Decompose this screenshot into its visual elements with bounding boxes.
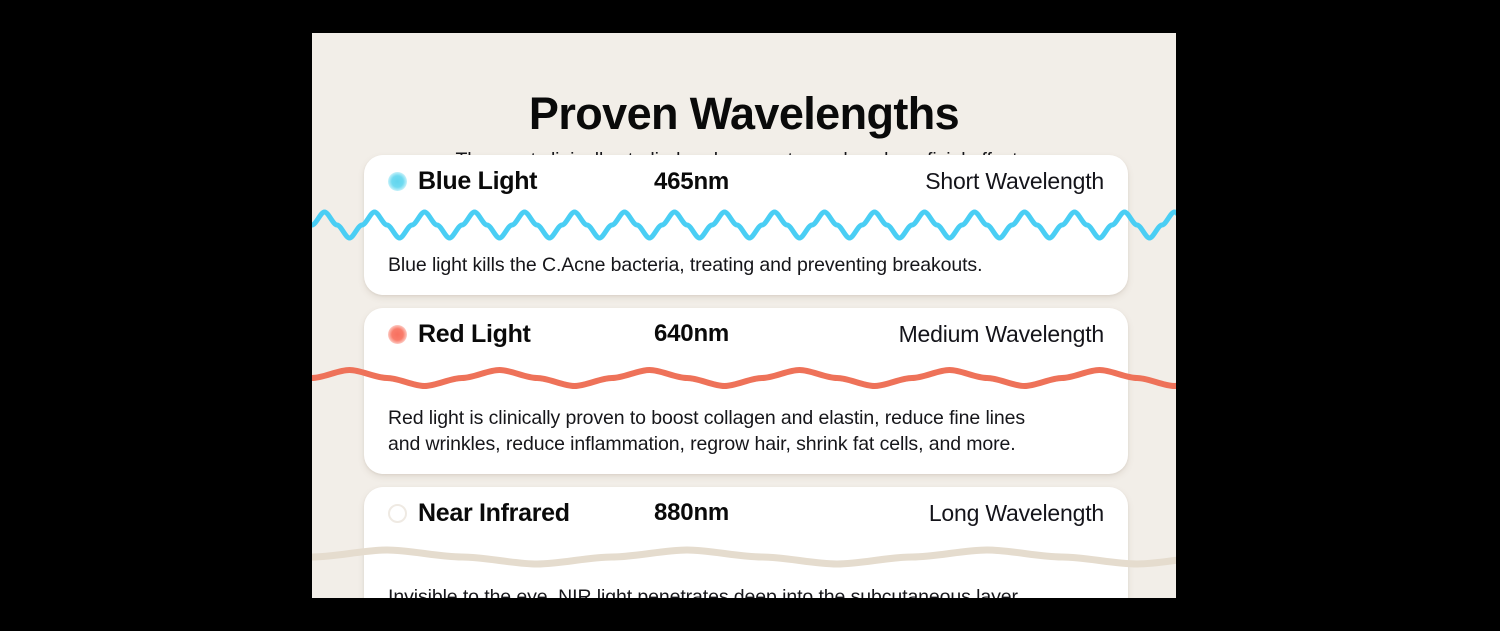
card-nanometer-value: 465nm bbox=[654, 168, 729, 196]
wave-graphic-blue-light bbox=[312, 203, 1176, 247]
wavelength-card-blue-light: Blue Light465nmShort WavelengthBlue ligh… bbox=[364, 155, 1128, 295]
card-description: Blue light kills the C.Acne bacteria, tr… bbox=[364, 247, 1128, 295]
card-nanometer-value: 640nm bbox=[654, 320, 729, 348]
card-description-line: and wrinkles, reduce inflammation, regro… bbox=[388, 432, 1104, 458]
wave-strip bbox=[364, 535, 1128, 579]
card-header-row: Near Infrared880nmLong Wavelength bbox=[364, 487, 1128, 537]
card-description-line: Red light is clinically proven to boost … bbox=[388, 406, 1104, 432]
screenshot-root: Proven Wavelengths The most clinically s… bbox=[0, 0, 1500, 631]
card-range-label: Short Wavelength bbox=[925, 168, 1104, 195]
card-description-line: Blue light kills the C.Acne bacteria, tr… bbox=[388, 253, 1104, 279]
hollow-ring-dot-icon bbox=[388, 504, 407, 523]
card-header-row: Red Light640nmMedium Wavelength bbox=[364, 308, 1128, 358]
wave-strip bbox=[364, 203, 1128, 247]
card-description-line: Invisible to the eye, NIR light penetrat… bbox=[388, 585, 1104, 598]
card-description: Red light is clinically proven to boost … bbox=[364, 400, 1128, 474]
wavelength-card-near-infrared: Near Infrared880nmLong WavelengthInvisib… bbox=[364, 487, 1128, 598]
wave-graphic-near-infrared bbox=[312, 535, 1176, 579]
wavelength-card-list: Blue Light465nmShort WavelengthBlue ligh… bbox=[364, 155, 1128, 598]
card-name: Near Infrared bbox=[418, 499, 570, 528]
card-header-row: Blue Light465nmShort Wavelength bbox=[364, 155, 1128, 205]
card-description: Invisible to the eye, NIR light penetrat… bbox=[364, 579, 1128, 598]
card-name: Red Light bbox=[418, 320, 531, 349]
card-nanometer-value: 880nm bbox=[654, 499, 729, 527]
card-range-label: Long Wavelength bbox=[929, 500, 1104, 527]
card-range-label: Medium Wavelength bbox=[899, 321, 1104, 348]
wavelengths-panel: Proven Wavelengths The most clinically s… bbox=[312, 33, 1176, 598]
wavelength-card-red-light: Red Light640nmMedium WavelengthRed light… bbox=[364, 308, 1128, 474]
wave-graphic-red-light bbox=[312, 356, 1176, 400]
red-glow-dot-icon bbox=[388, 325, 407, 344]
page-title: Proven Wavelengths bbox=[312, 88, 1176, 140]
wave-strip bbox=[364, 356, 1128, 400]
blue-glow-dot-icon bbox=[388, 172, 407, 191]
card-name: Blue Light bbox=[418, 167, 537, 196]
